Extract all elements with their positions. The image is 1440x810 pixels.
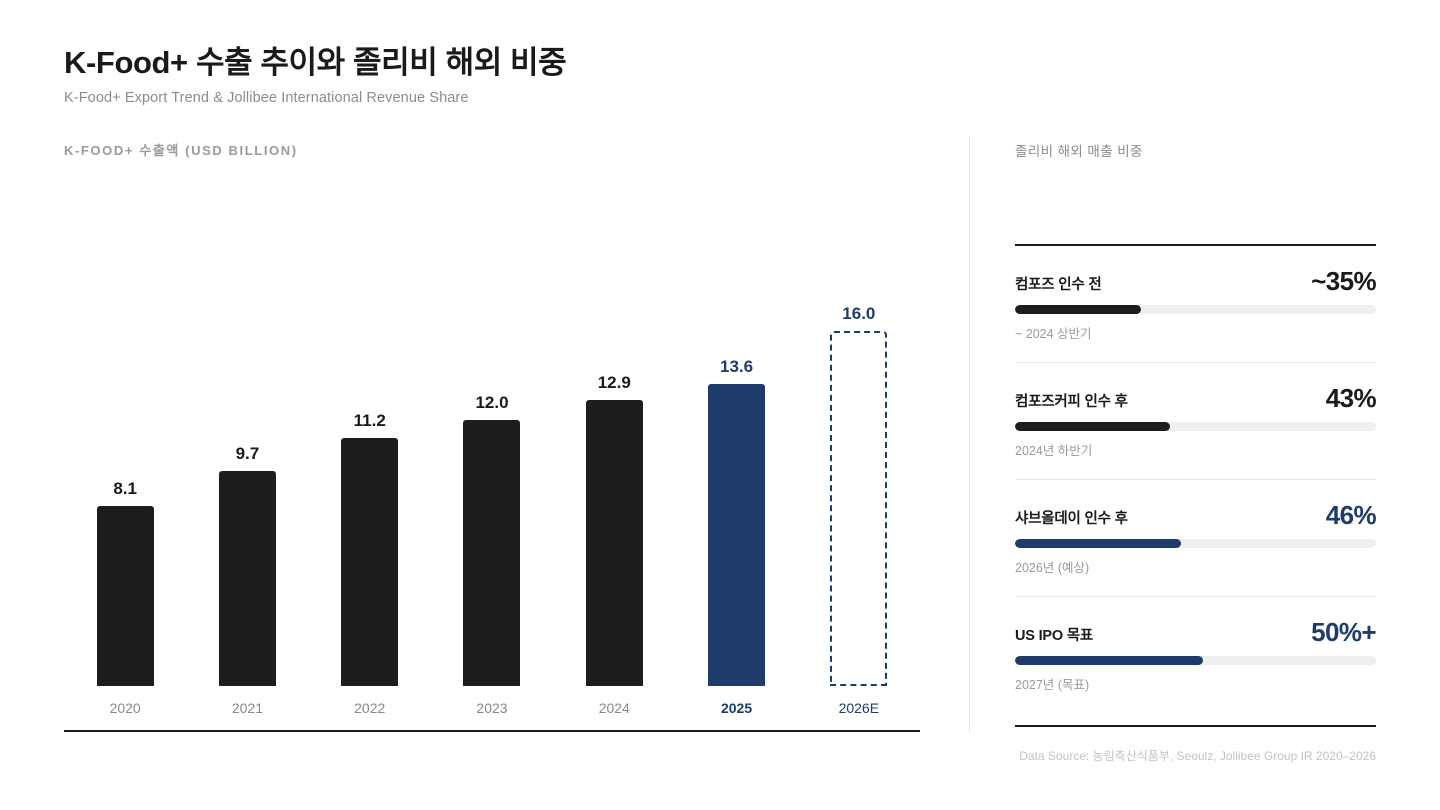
metric-label: 컴포즈커피 인수 후 bbox=[1015, 390, 1128, 411]
metric-row: 샤브올데이 인수 후46%2026년 (예상) bbox=[1015, 480, 1376, 597]
metric-label: US IPO 목표 bbox=[1015, 624, 1093, 645]
bar-2022 bbox=[341, 438, 398, 687]
progress-fill bbox=[1015, 656, 1203, 665]
chart-axis-label: K-FOOD+ 수출액 (USD BILLION) bbox=[64, 140, 920, 159]
x-axis-line bbox=[64, 730, 920, 733]
infographic-page: K-Food+ 수출 추이와 졸리비 해외 비중 K-Food+ Export … bbox=[0, 0, 1440, 810]
data-source-note: Data Source: 농림축산식품부, Seoulz, Jollibee G… bbox=[1019, 747, 1376, 764]
bar-value-label: 11.2 bbox=[354, 412, 386, 429]
bar-group-2020: 8.1 bbox=[64, 236, 186, 686]
page-title: K-Food+ 수출 추이와 졸리비 해외 비중 bbox=[64, 44, 566, 81]
metric-value: 43% bbox=[1326, 385, 1376, 411]
metric-row: US IPO 목표50%+2027년 (목표) bbox=[1015, 597, 1376, 703]
bar-group-2023: 12.0 bbox=[431, 236, 553, 686]
bar-group-2022: 11.2 bbox=[309, 236, 431, 686]
bar-group-2026E: 16.0 bbox=[798, 236, 920, 686]
metric-note: ~ 2024 상반기 bbox=[1015, 323, 1376, 342]
bar-2024 bbox=[586, 400, 643, 686]
bar-group-2024: 12.9 bbox=[553, 236, 675, 686]
bar-value-label: 9.7 bbox=[236, 445, 260, 462]
side-panel: 졸리비 해외 매출 비중 컴포즈 인수 전~35%~ 2024 상반기컴포즈커피… bbox=[1015, 140, 1376, 727]
metric-value: 46% bbox=[1326, 502, 1376, 528]
header: K-Food+ 수출 추이와 졸리비 해외 비중 K-Food+ Export … bbox=[64, 44, 566, 106]
metric-header: 컴포즈커피 인수 후43% bbox=[1015, 385, 1376, 411]
metric-row: 컴포즈커피 인수 후43%2024년 하반기 bbox=[1015, 363, 1376, 480]
chart-panel: K-FOOD+ 수출액 (USD BILLION) 8.19.711.212.0… bbox=[64, 140, 920, 735]
x-axis-label-2024: 2024 bbox=[553, 700, 675, 716]
bar-chart: 8.19.711.212.012.913.616.0 2020202120222… bbox=[64, 190, 920, 732]
progress-fill bbox=[1015, 539, 1181, 548]
metric-header: 샤브올데이 인수 후46% bbox=[1015, 502, 1376, 528]
metric-value: 50%+ bbox=[1311, 619, 1376, 645]
x-axis-label-2021: 2021 bbox=[186, 700, 308, 716]
metric-row: 컴포즈 인수 전~35%~ 2024 상반기 bbox=[1015, 246, 1376, 363]
side-panel-bottom-rule bbox=[1015, 725, 1376, 727]
bar-series: 8.19.711.212.012.913.616.0 bbox=[64, 236, 920, 686]
progress-track bbox=[1015, 539, 1376, 548]
panel-divider bbox=[969, 136, 970, 732]
metric-list: 컴포즈 인수 전~35%~ 2024 상반기컴포즈커피 인수 후43%2024년… bbox=[1015, 246, 1376, 703]
side-panel-label: 졸리비 해외 매출 비중 bbox=[1015, 140, 1376, 160]
x-axis-labels: 2020202120222023202420252026E bbox=[64, 700, 920, 716]
metric-value: ~35% bbox=[1311, 268, 1376, 294]
metric-note: 2027년 (목표) bbox=[1015, 674, 1376, 693]
progress-fill bbox=[1015, 422, 1170, 431]
progress-track bbox=[1015, 305, 1376, 314]
x-axis-label-2020: 2020 bbox=[64, 700, 186, 716]
metric-note: 2024년 하반기 bbox=[1015, 440, 1376, 459]
bar-2026E bbox=[830, 331, 887, 686]
progress-fill bbox=[1015, 305, 1141, 314]
bar-value-label: 12.0 bbox=[475, 394, 508, 411]
x-axis-label-2025: 2025 bbox=[675, 700, 797, 716]
x-axis-label-2022: 2022 bbox=[309, 700, 431, 716]
progress-track bbox=[1015, 656, 1376, 665]
x-axis-label-2026E: 2026E bbox=[798, 700, 920, 716]
x-axis-label-2023: 2023 bbox=[431, 700, 553, 716]
bar-value-label: 16.0 bbox=[842, 305, 875, 322]
metric-note: 2026년 (예상) bbox=[1015, 557, 1376, 576]
metric-label: 샤브올데이 인수 후 bbox=[1015, 507, 1128, 528]
bar-value-label: 13.6 bbox=[720, 358, 753, 375]
bar-2025 bbox=[708, 384, 765, 686]
bar-group-2021: 9.7 bbox=[186, 236, 308, 686]
metric-header: 컴포즈 인수 전~35% bbox=[1015, 268, 1376, 294]
progress-track bbox=[1015, 422, 1376, 431]
bar-value-label: 12.9 bbox=[598, 374, 631, 391]
bar-2021 bbox=[219, 471, 276, 686]
bar-2020 bbox=[97, 506, 154, 686]
metric-header: US IPO 목표50%+ bbox=[1015, 619, 1376, 645]
bar-2023 bbox=[463, 420, 520, 686]
metric-label: 컴포즈 인수 전 bbox=[1015, 273, 1102, 294]
bar-group-2025: 13.6 bbox=[675, 236, 797, 686]
page-subtitle: K-Food+ Export Trend & Jollibee Internat… bbox=[64, 90, 566, 106]
bar-value-label: 8.1 bbox=[113, 480, 137, 497]
